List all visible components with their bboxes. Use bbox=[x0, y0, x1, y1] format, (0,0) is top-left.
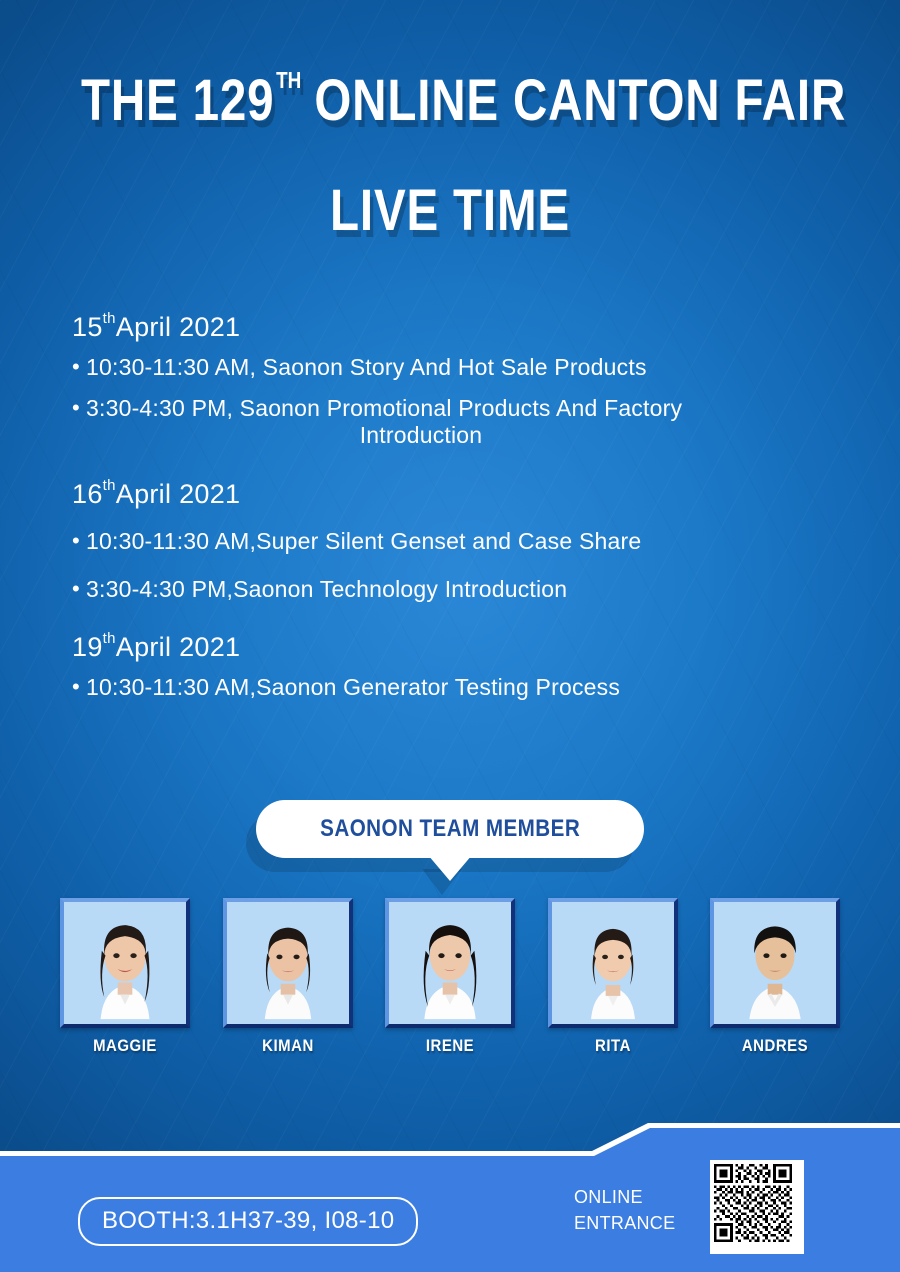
team-member-name: ANDRES bbox=[718, 1036, 832, 1056]
team-member-name: IRENE bbox=[393, 1036, 507, 1056]
team-member: RITA bbox=[548, 898, 678, 1056]
schedule-day-group: 16thApril 2021 •10:30-11:30 AM,Super Sil… bbox=[72, 479, 860, 605]
schedule-day-group: 15thApril 2021 •10:30-11:30 AM, Saonon S… bbox=[72, 312, 860, 449]
date-ordinal: th bbox=[103, 310, 116, 327]
bullet-icon: • bbox=[72, 353, 80, 382]
date-number: 15 bbox=[72, 312, 103, 342]
team-member: KIMAN bbox=[223, 898, 353, 1056]
booth-badge: BOOTH:3.1H37-39, I08-10 bbox=[78, 1197, 418, 1246]
footer-bar: BOOTH:3.1H37-39, I08-10 ONLINE ENTRANCE bbox=[0, 1120, 900, 1272]
schedule-item: •3:30-4:30 PM,Saonon Technology Introduc… bbox=[72, 574, 860, 606]
date-rest: April 2021 bbox=[116, 479, 241, 509]
schedule-date-heading: 15thApril 2021 bbox=[72, 312, 860, 343]
team-banner-label: SAONON TEAM MEMBER bbox=[320, 815, 580, 843]
title-ordinal-superscript: TH bbox=[276, 67, 301, 93]
team-member-row: MAGGIE KIMAN bbox=[60, 898, 840, 1056]
entrance-line-2: ENTRANCE bbox=[574, 1210, 675, 1236]
team-member: IRENE bbox=[385, 898, 515, 1056]
team-member-name: KIMAN bbox=[230, 1036, 344, 1056]
team-banner-bubble: SAONON TEAM MEMBER bbox=[256, 800, 644, 858]
schedule-item-text: 10:30-11:30 AM,Saonon Generator Testing … bbox=[86, 674, 620, 700]
date-rest: April 2021 bbox=[116, 312, 241, 342]
avatar bbox=[710, 898, 840, 1028]
qr-code-icon bbox=[714, 1164, 792, 1242]
schedule-item-text: 3:30-4:30 PM,Saonon Technology Introduct… bbox=[86, 576, 567, 602]
date-number: 19 bbox=[72, 632, 103, 662]
team-member-name: RITA bbox=[555, 1036, 669, 1056]
date-ordinal: th bbox=[103, 477, 116, 494]
team-member: ANDRES bbox=[710, 898, 840, 1056]
date-ordinal: th bbox=[103, 630, 116, 647]
schedule-list: 15thApril 2021 •10:30-11:30 AM, Saonon S… bbox=[72, 312, 860, 726]
avatar bbox=[223, 898, 353, 1028]
portrait-icon bbox=[227, 902, 349, 1024]
schedule-date-heading: 19thApril 2021 bbox=[72, 632, 860, 663]
team-banner: SAONON TEAM MEMBER bbox=[0, 800, 900, 858]
portrait-icon bbox=[389, 902, 511, 1024]
date-rest: April 2021 bbox=[116, 632, 241, 662]
bullet-icon: • bbox=[72, 394, 80, 423]
bullet-icon: • bbox=[72, 527, 80, 556]
entrance-line-1: ONLINE bbox=[574, 1184, 675, 1210]
date-number: 16 bbox=[72, 479, 103, 509]
team-member-name: MAGGIE bbox=[68, 1036, 182, 1056]
portrait-icon bbox=[714, 902, 836, 1024]
bubble-pointer-icon bbox=[428, 855, 472, 881]
poster-canvas: THE 129THONLINE CANTON FAIR LIVE TIME 15… bbox=[0, 0, 900, 1272]
title-text-before: THE 129 bbox=[81, 68, 274, 133]
bullet-icon: • bbox=[72, 575, 80, 604]
schedule-item-continuation: Introduction bbox=[72, 422, 860, 449]
poster-title: THE 129THONLINE CANTON FAIR LIVE TIME bbox=[0, 72, 900, 240]
online-entrance-label: ONLINE ENTRANCE bbox=[574, 1184, 675, 1236]
team-member: MAGGIE bbox=[60, 898, 190, 1056]
schedule-item: •10:30-11:30 AM,Saonon Generator Testing… bbox=[72, 672, 860, 704]
avatar bbox=[60, 898, 190, 1028]
schedule-item-text: 10:30-11:30 AM, Saonon Story And Hot Sal… bbox=[86, 354, 647, 380]
schedule-date-heading: 16thApril 2021 bbox=[72, 479, 860, 510]
schedule-item: •10:30-11:30 AM, Saonon Story And Hot Sa… bbox=[72, 352, 860, 384]
qr-code[interactable] bbox=[710, 1160, 804, 1254]
title-line-2: LIVE TIME bbox=[81, 182, 819, 240]
schedule-item: •3:30-4:30 PM, Saonon Promotional Produc… bbox=[72, 393, 860, 425]
portrait-icon bbox=[64, 902, 186, 1024]
title-text-after: ONLINE CANTON FAIR bbox=[314, 68, 846, 133]
portrait-icon bbox=[552, 902, 674, 1024]
avatar bbox=[548, 898, 678, 1028]
title-line-1: THE 129THONLINE CANTON FAIR bbox=[81, 72, 819, 130]
bullet-icon: • bbox=[72, 673, 80, 702]
schedule-item-text: 10:30-11:30 AM,Super Silent Genset and C… bbox=[86, 528, 641, 554]
schedule-item-text: 3:30-4:30 PM, Saonon Promotional Product… bbox=[86, 395, 682, 421]
schedule-item: •10:30-11:30 AM,Super Silent Genset and … bbox=[72, 526, 860, 558]
schedule-day-group: 19thApril 2021 •10:30-11:30 AM,Saonon Ge… bbox=[72, 632, 860, 704]
avatar bbox=[385, 898, 515, 1028]
